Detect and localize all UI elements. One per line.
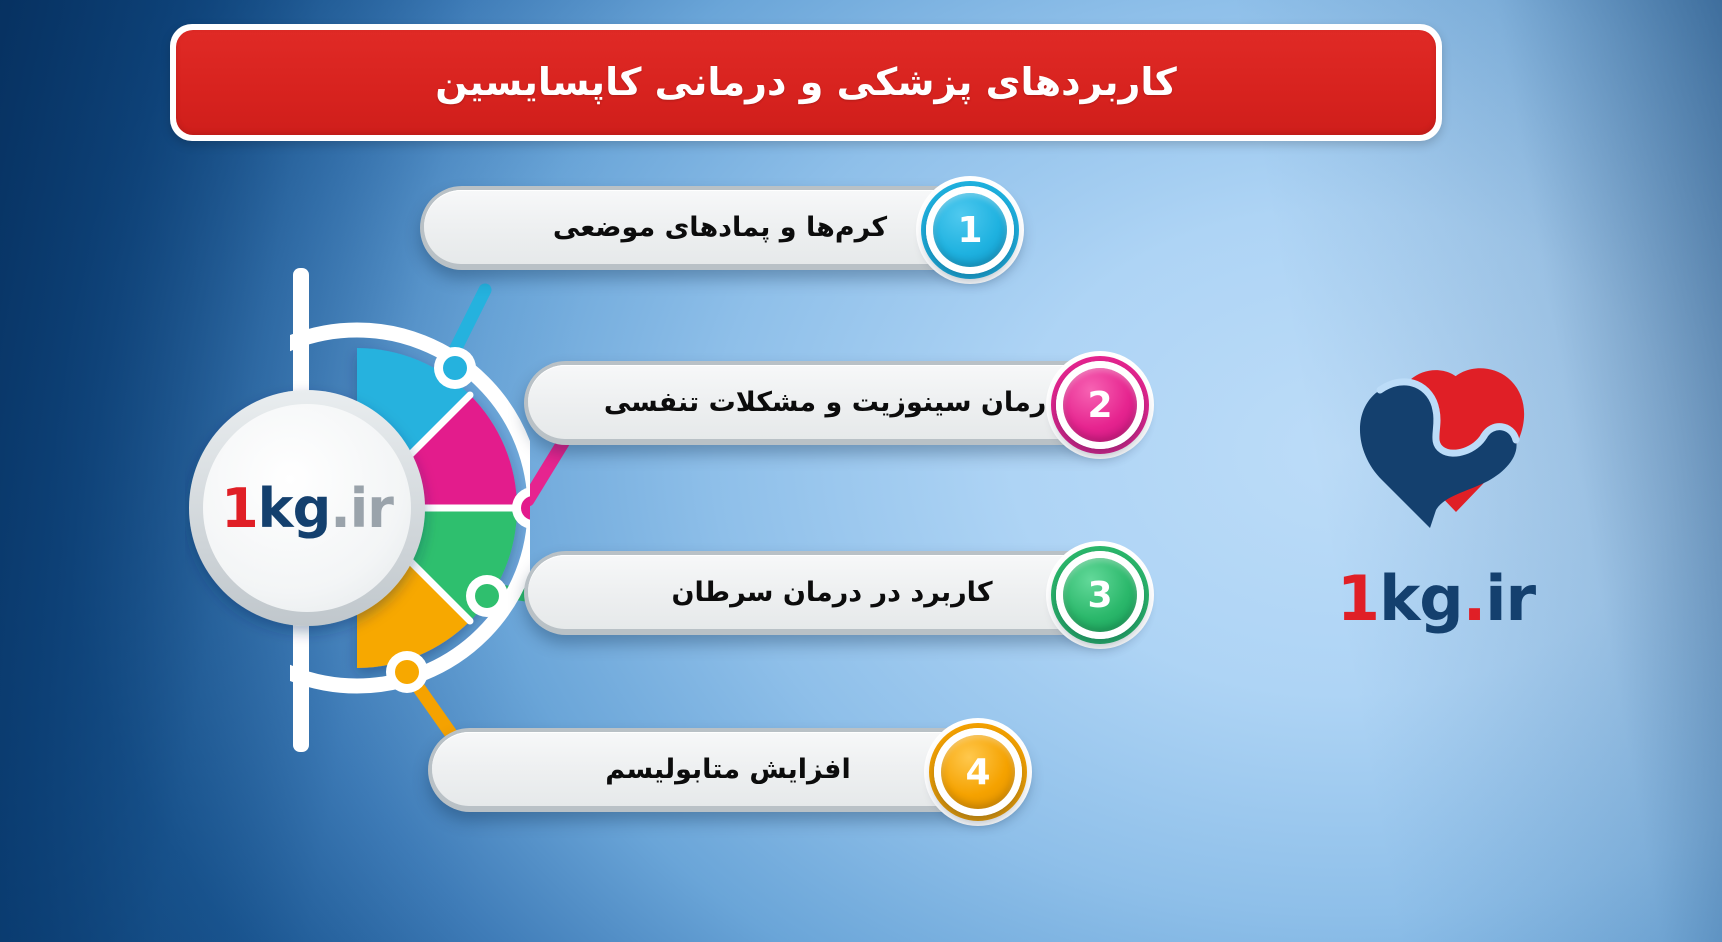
brand-logo: 1kg.ir xyxy=(1286,358,1586,658)
title-banner-fill: کاربردهای پزشکی و درمانی کاپسایسین xyxy=(176,30,1436,135)
item-label: کاربرد در درمان سرطان xyxy=(637,577,1026,608)
wheel-node-1 xyxy=(434,347,476,389)
item-pill-inner: کاربرد در درمان سرطان xyxy=(528,555,1136,629)
badge-2[interactable]: 2 xyxy=(1056,361,1144,449)
badge-number-4: 4 xyxy=(941,735,1015,809)
item-label: کرم‌ها و پمادهای موضعی xyxy=(519,212,921,243)
infographic-canvas: کاربردهای پزشکی و درمانی کاپسایسین xyxy=(0,0,1722,942)
wheel-node-3 xyxy=(466,575,508,617)
wheel-node-4 xyxy=(386,651,428,693)
brand-dot: . xyxy=(1463,562,1486,635)
badge-3[interactable]: 3 xyxy=(1056,551,1144,639)
item-label: درمان سینوزیت و مشکلات تنفسی xyxy=(570,387,1094,418)
center-logo-one: 1 xyxy=(221,477,258,540)
badge-number-3: 3 xyxy=(1063,558,1137,632)
badge-number-2: 2 xyxy=(1063,368,1137,442)
page-title: کاربردهای پزشکی و درمانی کاپسایسین xyxy=(395,59,1217,107)
center-logo-dot: . xyxy=(330,477,350,540)
center-wheel: 1kg.ir xyxy=(185,258,530,758)
badge-4[interactable]: 4 xyxy=(934,728,1022,816)
item-pill-inner: درمان سینوزیت و مشکلات تنفسی xyxy=(528,365,1136,439)
center-logo-kg: kg xyxy=(258,477,331,540)
badge-ring-3: 3 xyxy=(1056,551,1144,639)
item-label: افزایش متابولیسم xyxy=(571,754,884,785)
brand-ir: ir xyxy=(1485,562,1535,635)
list-item[interactable]: افزایش متابولیسم 4 xyxy=(428,728,1028,812)
list-item[interactable]: کرم‌ها و پمادهای موضعی 1 xyxy=(420,186,1020,270)
badge-1[interactable]: 1 xyxy=(926,186,1014,274)
list-item[interactable]: درمان سینوزیت و مشکلات تنفسی 2 xyxy=(524,361,1140,445)
center-logo-ir: ir xyxy=(350,477,393,540)
badge-number-1: 1 xyxy=(933,193,1007,267)
badge-ring-4: 4 xyxy=(934,728,1022,816)
brand-wordmark: 1kg.ir xyxy=(1337,562,1535,635)
heart-icon xyxy=(1326,358,1546,558)
badge-ring-2: 2 xyxy=(1056,361,1144,449)
brand-one: 1 xyxy=(1337,562,1379,635)
brand-kg: kg xyxy=(1379,562,1463,635)
list-item[interactable]: کاربرد در درمان سرطان 3 xyxy=(524,551,1140,635)
title-banner: کاربردهای پزشکی و درمانی کاپسایسین xyxy=(170,24,1442,141)
badge-ring-1: 1 xyxy=(926,186,1014,274)
center-logo: 1kg.ir xyxy=(189,463,425,553)
